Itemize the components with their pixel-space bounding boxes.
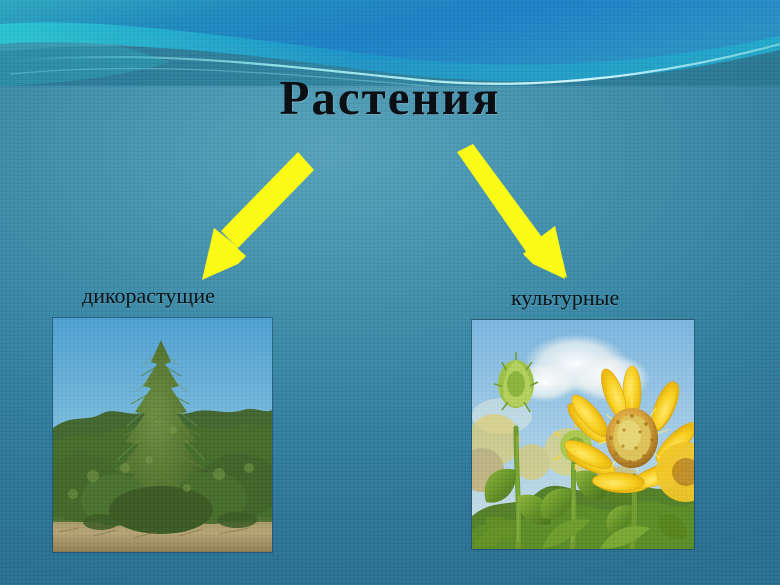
slide-title: Растения [0,72,780,123]
presentation-slide: Растения дикорастущие культурные [0,0,780,585]
sunflower-field-photo [472,320,694,549]
sunflower-photo-art [472,320,694,549]
conifer-spruce-photo [53,318,272,552]
category-label-cultivated: культурные [511,285,619,311]
category-label-wild: дикорастущие [82,283,215,309]
conifer-photo-art [53,318,272,552]
